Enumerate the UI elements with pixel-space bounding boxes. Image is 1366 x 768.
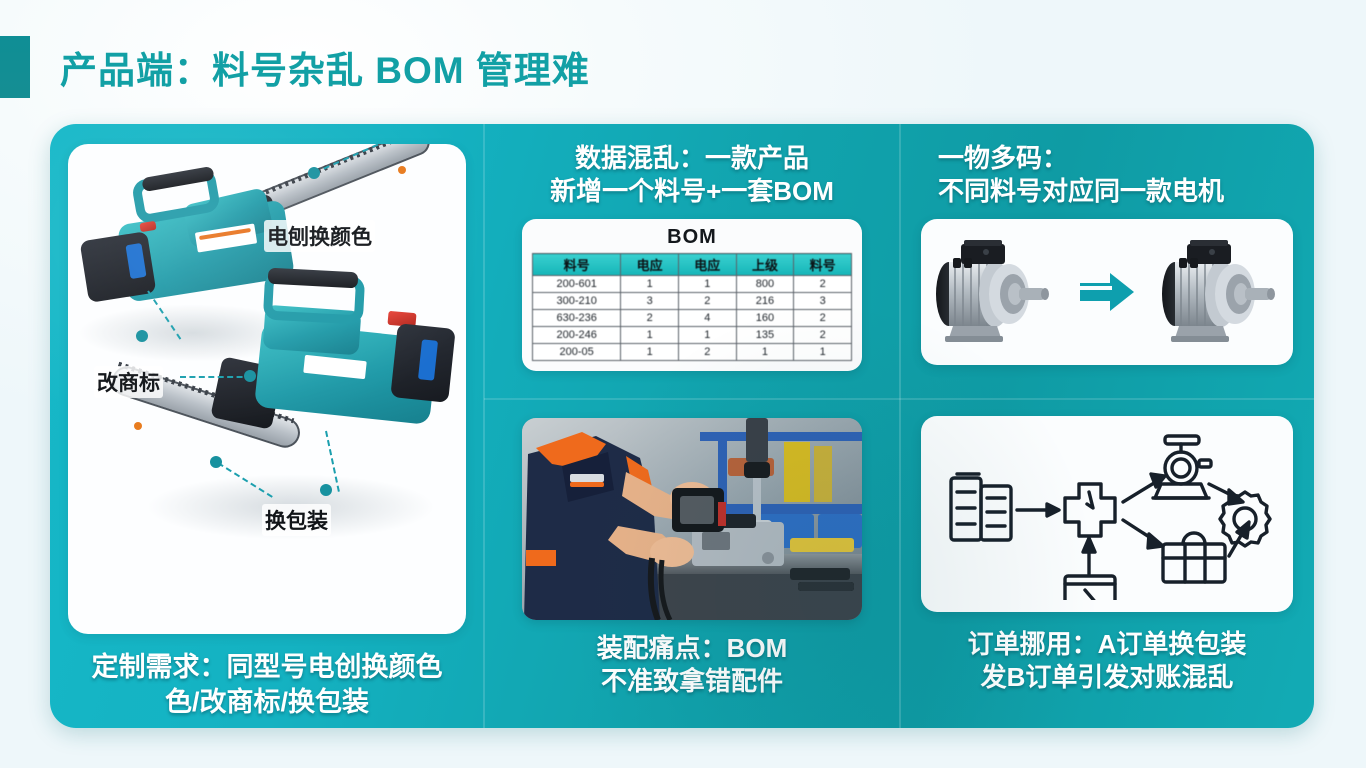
toolbox-icon <box>1163 533 1225 582</box>
leader-dot-5 <box>210 456 222 468</box>
leader-dot-4 <box>320 484 332 496</box>
bom-col-2: 电应 <box>678 254 736 276</box>
assembly-photo-illustration <box>522 418 862 620</box>
column-divider-2 <box>899 124 901 728</box>
bom-cell: 3 <box>794 293 852 310</box>
multi-code-title-line2: 不同料号对应同一款电机 <box>938 175 1294 208</box>
annotation-change-logo: 改商标 <box>94 366 163 398</box>
pump-icon <box>1153 436 1211 498</box>
mid-caption-line1: 装配痛点：BOM <box>506 632 878 665</box>
bom-cell: 1 <box>678 327 736 344</box>
multi-code-panel: 一物多码： 不同料号对应同一款电机 <box>900 124 1314 398</box>
leader-dot-3 <box>244 370 256 382</box>
page-title: 产品端：料号杂乱 BOM 管理难 <box>60 40 590 94</box>
motor-comparison-card <box>921 219 1293 365</box>
server-rack-icon <box>951 474 1011 540</box>
bom-col-3: 上级 <box>736 254 794 276</box>
motor-icon-left <box>931 236 1057 348</box>
bom-cell: 2 <box>678 344 736 361</box>
bom-col-0: 料号 <box>533 254 621 276</box>
left-column: 电刨换颜色 改商标 换包装 定制需求：同型号电创换颜色 色/改商标/换包装 <box>50 124 484 728</box>
bom-cell: 2 <box>794 310 852 327</box>
bom-cell: 300-210 <box>533 293 621 310</box>
leader-line-3 <box>180 376 252 378</box>
bom-cell: 1 <box>794 344 852 361</box>
bom-cell: 200-601 <box>533 276 621 293</box>
row-divider <box>484 398 1314 400</box>
paint-bucket-icon <box>1065 576 1115 600</box>
assembly-photo <box>522 418 862 620</box>
right-caption: 订单挪用：A订单换包装 发B订单引发对账混乱 <box>920 628 1294 695</box>
order-diversion-panel: 订单挪用：A订单换包装 发B订单引发对账混乱 <box>900 398 1314 728</box>
chainsaw-photo-panel: 电刨换颜色 改商标 换包装 <box>68 144 466 634</box>
bom-cell: 135 <box>736 327 794 344</box>
bom-cell: 2 <box>621 310 679 327</box>
bom-cell: 200-05 <box>533 344 621 361</box>
data-chaos-title: 数据混乱：一款产品 新增一个料号+一套BOM <box>506 142 878 207</box>
motor-icon-right <box>1157 236 1283 348</box>
leader-dot-2 <box>136 330 148 342</box>
process-diagram-card <box>921 416 1293 612</box>
bom-cell: 4 <box>678 310 736 327</box>
arrow-pump-to-gear <box>1209 484 1243 504</box>
table-row: 200-05 1 2 1 1 <box>533 344 852 361</box>
arrow-box-to-valve <box>1083 538 1095 574</box>
bom-cell: 2 <box>794 327 852 344</box>
table-row: 200-246 1 1 135 2 <box>533 327 852 344</box>
bom-col-4: 料号 <box>794 254 852 276</box>
table-row: 200-601 1 1 800 2 <box>533 276 852 293</box>
bom-cell: 800 <box>736 276 794 293</box>
header-accent-bar <box>0 36 30 98</box>
bom-cell: 200-246 <box>533 327 621 344</box>
arrow-valve-to-toolbox <box>1123 520 1163 548</box>
right-caption-line1: 订单挪用：A订单换包装 <box>920 628 1294 661</box>
left-caption-line1: 定制需求：同型号电创换颜色 <box>74 650 460 685</box>
mid-caption-line2: 不准致拿错配件 <box>506 665 878 698</box>
bom-cell: 630-236 <box>533 310 621 327</box>
middle-column: 数据混乱：一款产品 新增一个料号+一套BOM BOM 料号 电应 电应 上级 料… <box>484 124 900 728</box>
multi-code-title-line1: 一物多码： <box>938 142 1294 175</box>
bom-table-card: BOM 料号 电应 电应 上级 料号 200-601 1 1 <box>522 219 862 371</box>
annotation-change-color: 电刨换颜色 <box>264 220 375 252</box>
left-caption: 定制需求：同型号电创换颜色 色/改商标/换包装 <box>68 650 466 719</box>
bom-col-1: 电应 <box>621 254 679 276</box>
bom-table-header-row: 料号 电应 电应 上级 料号 <box>533 254 852 276</box>
bom-cell: 2 <box>794 276 852 293</box>
data-chaos-title-line2: 新增一个料号+一套BOM <box>506 175 878 208</box>
assembly-pain-panel: 装配痛点：BOM 不准致拿错配件 <box>484 398 900 728</box>
arrow-right-icon <box>1078 269 1136 315</box>
bom-cell: 2 <box>678 293 736 310</box>
page-header: 产品端：料号杂乱 BOM 管理难 <box>0 36 1366 98</box>
column-divider-1 <box>483 124 485 728</box>
process-flow-diagram <box>937 428 1277 600</box>
bom-cell: 1 <box>678 276 736 293</box>
content-card: 电刨换颜色 改商标 换包装 定制需求：同型号电创换颜色 色/改商标/换包装 数据… <box>50 124 1314 728</box>
bom-cell: 1 <box>621 276 679 293</box>
multi-code-title: 一物多码： 不同料号对应同一款电机 <box>920 142 1294 207</box>
bom-cell: 3 <box>621 293 679 310</box>
left-caption-line2: 色/改商标/换包装 <box>74 685 460 720</box>
valve-icon <box>1065 484 1115 536</box>
bom-cell: 216 <box>736 293 794 310</box>
right-caption-line2: 发B订单引发对账混乱 <box>920 661 1294 694</box>
bom-table: 料号 电应 电应 上级 料号 200-601 1 1 800 2 <box>532 253 852 361</box>
arrow-rack-to-valve <box>1017 504 1059 516</box>
data-chaos-title-line1: 数据混乱：一款产品 <box>506 142 878 175</box>
table-row: 300-210 3 2 216 3 <box>533 293 852 310</box>
bom-heading: BOM <box>532 225 852 253</box>
bom-cell: 1 <box>621 344 679 361</box>
leader-dot-1 <box>308 167 320 179</box>
bom-cell: 160 <box>736 310 794 327</box>
mid-caption: 装配痛点：BOM 不准致拿错配件 <box>506 632 878 699</box>
bom-cell: 1 <box>736 344 794 361</box>
bom-cell: 1 <box>621 327 679 344</box>
data-chaos-panel: 数据混乱：一款产品 新增一个料号+一套BOM BOM 料号 电应 电应 上级 料… <box>484 124 900 398</box>
right-column: 一物多码： 不同料号对应同一款电机 <box>900 124 1314 728</box>
annotation-change-packaging: 换包装 <box>262 504 331 536</box>
table-row: 630-236 2 4 160 2 <box>533 310 852 327</box>
